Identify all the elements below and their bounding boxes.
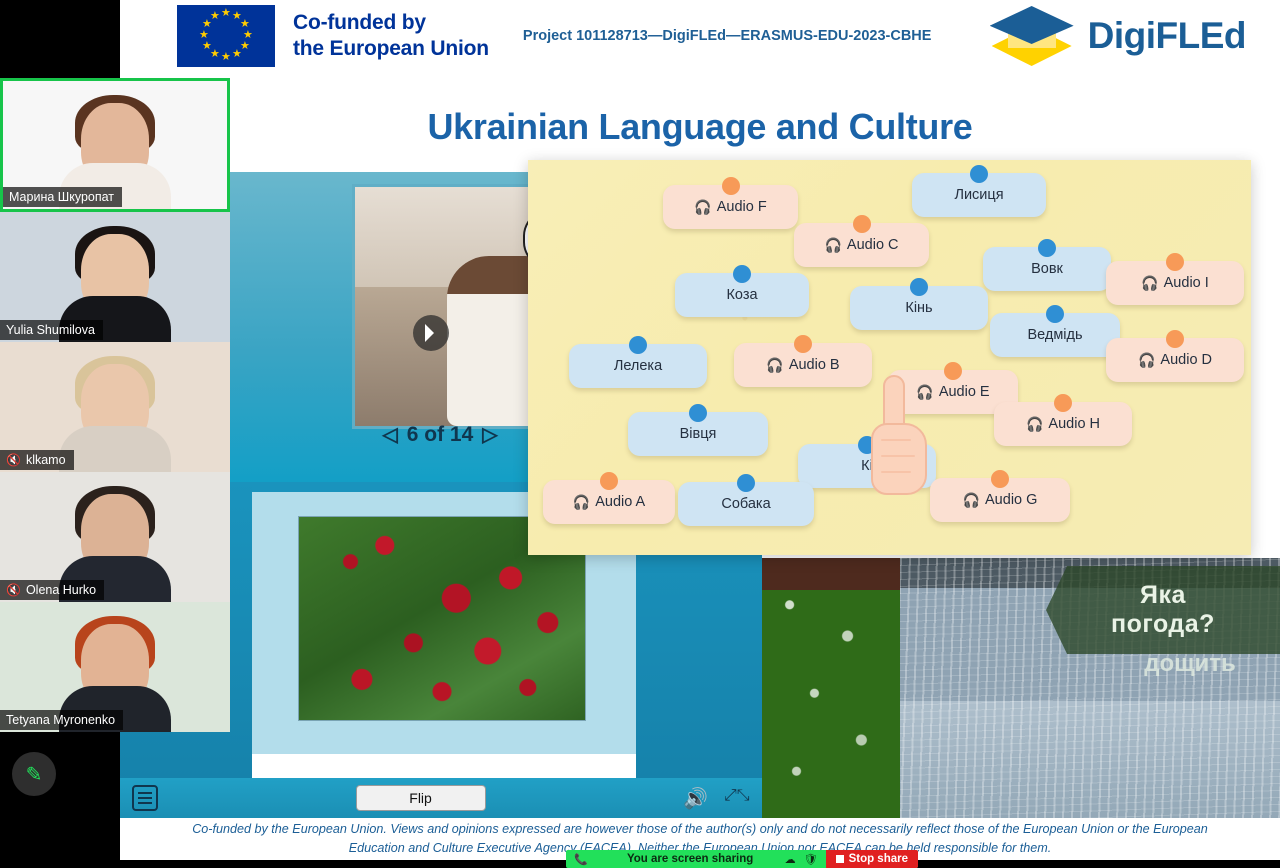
headphones-icon: 🎧 <box>694 199 711 216</box>
eu-star-icon: ★ <box>202 41 212 52</box>
eu-funding-line-2: the European Union <box>293 36 489 62</box>
header-branding-band: ★★★★★★★★★★★★ Co-funded by the European U… <box>120 0 1280 72</box>
speaker-icon[interactable]: 🔊 <box>683 786 708 811</box>
black-margin-bottom-left <box>0 736 120 868</box>
headphones-icon: 🎧 <box>824 237 841 254</box>
audio-card-dot[interactable] <box>944 362 962 380</box>
card-label: Вівця <box>680 426 717 442</box>
participant-tile-0[interactable]: Марина Шкуропат <box>0 78 230 212</box>
audio-card-8[interactable]: 🎧Audio D <box>1106 338 1244 382</box>
audio-card-dot[interactable] <box>794 335 812 353</box>
audio-card-0[interactable]: 🎧Audio F <box>663 185 798 229</box>
hand-knuckle <box>881 471 911 473</box>
participant-name-text: Марина Шкуропат <box>9 190 114 204</box>
word-card-1[interactable]: Лисиця <box>912 173 1046 217</box>
headphones-icon: 🎧 <box>1138 352 1155 369</box>
word-card-3[interactable]: Вовк <box>983 247 1111 291</box>
participant-tile-3[interactable]: 🔇Olena Hurko <box>0 472 230 602</box>
audio-card-dot[interactable] <box>991 470 1009 488</box>
card-label: Лисиця <box>954 187 1003 203</box>
card-label: Audio I <box>1164 275 1209 291</box>
word-card-dot[interactable] <box>1046 305 1064 323</box>
participant-body <box>59 426 171 472</box>
word-card-dot[interactable] <box>689 404 707 422</box>
audio-card-dot[interactable] <box>1166 253 1184 271</box>
weather-answer-text: дощить <box>1100 650 1280 678</box>
hand-cursor-icon <box>865 375 935 500</box>
phone-icon: 📞 <box>574 853 588 866</box>
word-card-dot[interactable] <box>629 336 647 354</box>
stop-share-button[interactable]: Stop share <box>826 850 918 868</box>
participant-name-text: Olena Hurko <box>26 583 96 597</box>
audio-card-15[interactable]: 🎧Audio A <box>543 480 675 524</box>
headphones-icon: 🎧 <box>766 357 783 374</box>
card-label: Audio D <box>1160 352 1212 368</box>
prev-page-button[interactable]: ◁ <box>382 422 397 447</box>
digifled-wordmark: DigiFLEd <box>1088 15 1246 57</box>
headphones-icon: 🎧 <box>1026 416 1043 433</box>
audio-card-4[interactable]: 🎧Audio I <box>1106 261 1244 305</box>
eu-flag-icon: ★★★★★★★★★★★★ <box>177 5 275 67</box>
graduation-cap-icon <box>986 4 1078 68</box>
participant-video-strip: Марина ШкуропатYulia Shumilova🔇klkamo🔇Ol… <box>0 78 230 736</box>
card-label: Вовк <box>1031 261 1063 277</box>
toolbar-right-group: 🔊 ⤢⤡ <box>683 786 746 811</box>
rain-on-leaf-image <box>762 558 900 818</box>
word-card-6[interactable]: Кінь <box>850 286 988 330</box>
eu-star-icon: ★ <box>232 49 242 60</box>
hand-knuckle <box>881 439 911 441</box>
screen-share-bar: 📞 You are screen sharing ☁ 🛡 Stop share <box>566 850 918 868</box>
card-label: Собака <box>721 496 770 512</box>
card-label: Коза <box>726 287 757 303</box>
card-label: Audio F <box>717 199 767 215</box>
card-label: Лелека <box>614 358 662 374</box>
word-card-dot[interactable] <box>737 474 755 492</box>
headphones-icon: 🎧 <box>573 494 590 511</box>
weather-question-banner: Яка погода? <box>1046 566 1280 654</box>
audio-card-12[interactable]: 🎧Audio H <box>994 402 1132 446</box>
share-status-label: You are screen sharing <box>596 853 785 865</box>
fullscreen-icon[interactable]: ⤢⤡ <box>724 787 746 809</box>
shield-icon[interactable]: 🛡 <box>804 853 818 866</box>
participant-tile-1[interactable]: Yulia Shumilova <box>0 212 230 342</box>
eu-funding-text: Co-funded by the European Union <box>293 10 489 61</box>
stop-square-icon <box>836 855 844 863</box>
audio-card-2[interactable]: 🎧Audio C <box>794 223 929 267</box>
headphones-icon: 🎧 <box>963 492 980 509</box>
audio-card-dot[interactable] <box>1054 394 1072 412</box>
participant-tile-4[interactable]: Tetyana Myronenko <box>0 602 230 732</box>
eu-star-icon: ★ <box>221 8 231 19</box>
mic-muted-icon: 🔇 <box>6 583 21 597</box>
stop-share-label: Stop share <box>849 853 908 865</box>
audio-card-dot[interactable] <box>853 215 871 233</box>
digifled-logo: DigiFLEd <box>986 4 1246 68</box>
weather-line-2: погода? <box>1111 610 1215 639</box>
word-card-5[interactable]: Коза <box>675 273 809 317</box>
audio-card-17[interactable]: 🎧Audio G <box>930 478 1070 522</box>
next-page-button[interactable]: ▷ <box>482 422 497 447</box>
participant-name-label: 🔇Olena Hurko <box>0 580 104 600</box>
weather-line-1: Яка <box>1140 581 1186 610</box>
page-indicator: 6 of 14 <box>407 423 474 446</box>
participant-name-label: Yulia Shumilova <box>0 320 103 340</box>
screen-root: Ukrainian Language and Culture Kyiv is t… <box>0 0 1280 868</box>
card-label: Audio H <box>1048 416 1100 432</box>
participant-name-text: klkamo <box>26 453 66 467</box>
menu-icon[interactable] <box>132 785 158 811</box>
cloud-icon[interactable]: ☁ <box>785 853 796 866</box>
eu-star-icon: ★ <box>210 11 220 22</box>
participant-tile-2[interactable]: 🔇klkamo <box>0 342 230 472</box>
audio-card-dot[interactable] <box>600 472 618 490</box>
participant-name-label: 🔇klkamo <box>0 450 74 470</box>
hand-knuckle <box>881 455 915 457</box>
card-label: Кінь <box>905 300 932 316</box>
play-video-button[interactable] <box>413 315 449 351</box>
audio-card-dot[interactable] <box>722 177 740 195</box>
audio-card-dot[interactable] <box>1166 330 1184 348</box>
word-card-dot[interactable] <box>910 278 928 296</box>
eu-star-icon: ★ <box>199 30 209 41</box>
audio-card-10[interactable]: 🎧Audio B <box>734 343 872 387</box>
flipbook-toolbar: Flip 🔊 ⤢⤡ <box>120 778 762 818</box>
card-label: Audio A <box>595 494 645 510</box>
page-title: Ukrainian Language and Culture <box>120 106 1280 148</box>
hand-fist <box>871 423 927 495</box>
headphones-icon: 🎧 <box>1141 275 1158 292</box>
participant-name-text: Tetyana Myronenko <box>6 713 115 727</box>
project-code-text: Project 101128713—DigiFLEd—ERASMUS-EDU-2… <box>523 28 932 44</box>
participant-name-label: Марина Шкуропат <box>3 187 122 207</box>
word-card-16[interactable]: Собака <box>678 482 814 526</box>
word-card-dot[interactable] <box>1038 239 1056 257</box>
word-card-13[interactable]: Вівця <box>628 412 768 456</box>
eu-star-icon: ★ <box>221 52 231 63</box>
word-card-9[interactable]: Лелека <box>569 344 707 388</box>
card-label: Audio B <box>789 357 840 373</box>
word-card-7[interactable]: Ведмідь <box>990 313 1120 357</box>
participant-name-label: Tetyana Myronenko <box>0 710 123 730</box>
eu-funding-line-1: Co-funded by <box>293 10 489 36</box>
word-card-dot[interactable] <box>970 165 988 183</box>
flip-button[interactable]: Flip <box>356 785 486 811</box>
card-label: Audio C <box>847 237 899 253</box>
card-label: Ведмідь <box>1027 327 1082 343</box>
annotate-pencil-icon[interactable]: ✎ <box>12 752 56 796</box>
word-card-dot[interactable] <box>733 265 751 283</box>
black-margin-top-left <box>0 0 120 78</box>
mic-muted-icon: 🔇 <box>6 453 21 467</box>
participant-name-text: Yulia Shumilova <box>6 323 95 337</box>
card-label: Audio G <box>985 492 1037 508</box>
card-label: Audio E <box>939 384 990 400</box>
